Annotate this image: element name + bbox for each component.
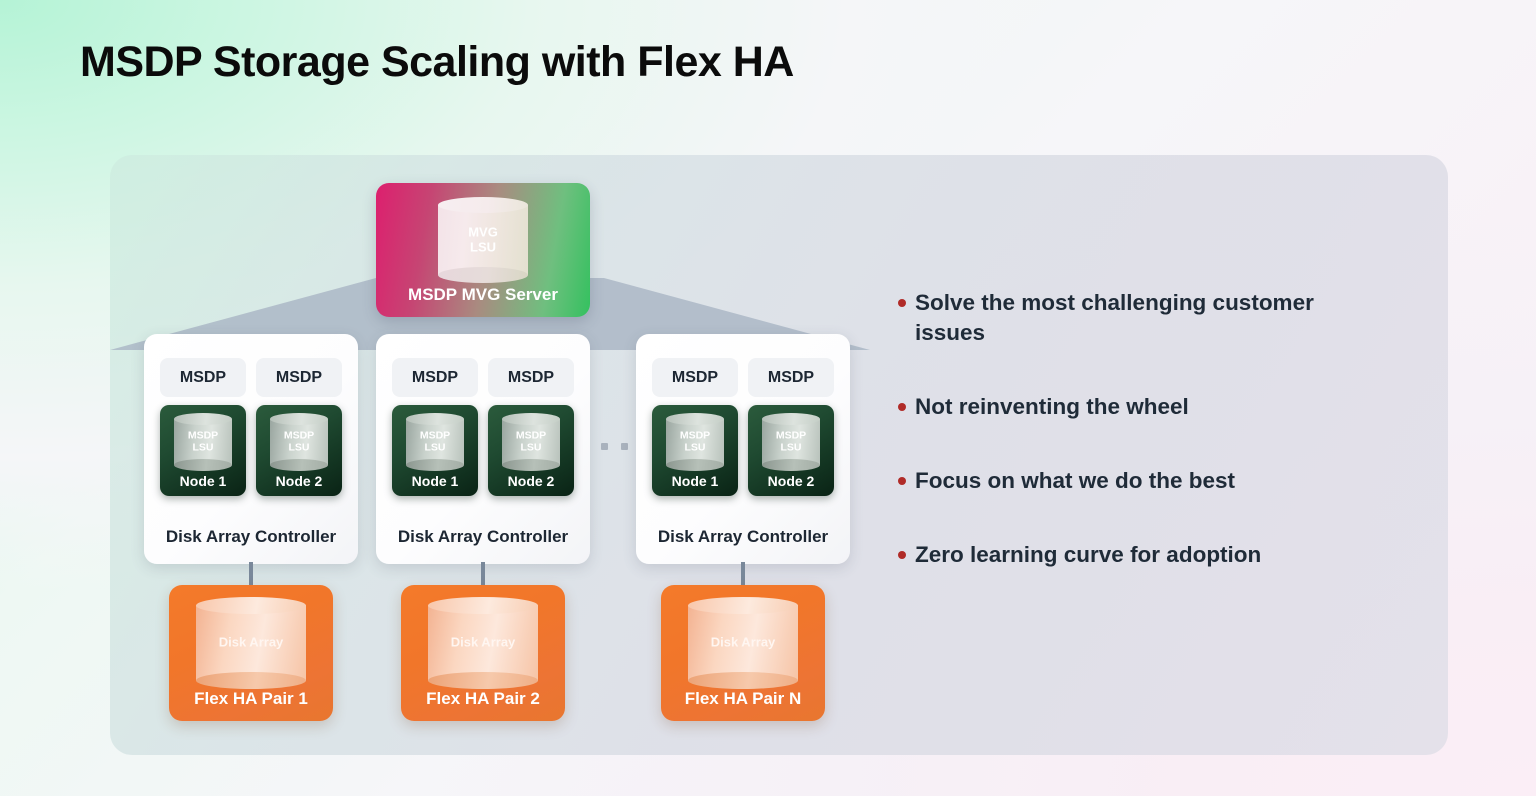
ellipsis-dot: [601, 443, 608, 450]
benefits-bullet-list: Solve the most challenging customer issu…: [898, 288, 1368, 614]
bullet-marker-icon: [898, 299, 906, 307]
node-cylinder-wrap: MSDP LSU: [666, 413, 724, 471]
bullet-marker-icon: [898, 403, 906, 411]
bullet-marker-icon: [898, 477, 906, 485]
msdp-lsu-cylinder-icon: MSDP LSU: [502, 413, 560, 471]
node-label: Node 1: [392, 473, 478, 489]
node-cylinder-wrap: MSDP LSU: [762, 413, 820, 471]
bullet-text: Solve the most challenging customer issu…: [915, 288, 1345, 348]
msdp-pill[interactable]: MSDP: [256, 358, 342, 397]
mvg-cylinder-label-line1: MVG: [438, 225, 528, 240]
node-cylinder-label-line2: LSU: [502, 442, 560, 454]
node-row: MSDP LSU Node 1 MSDP LSU Node 2: [652, 405, 834, 496]
flex-ha-pair-label: Flex HA Pair 1: [169, 689, 333, 709]
disk-array-cylinder-wrap: Disk Array: [688, 597, 798, 689]
node-box-2[interactable]: MSDP LSU Node 2: [488, 405, 574, 496]
msdp-mvg-server-card[interactable]: MVG LSU MSDP MVG Server: [376, 183, 590, 317]
node-cylinder-label-line1: MSDP: [666, 430, 724, 442]
node-label: Node 1: [160, 473, 246, 489]
flex-ha-pair-label: Flex HA Pair 2: [401, 689, 565, 709]
node-cylinder-label-line1: MSDP: [762, 430, 820, 442]
disk-array-cylinder-wrap: Disk Array: [196, 597, 306, 689]
node-cylinder-label-line1: MSDP: [270, 430, 328, 442]
msdp-lsu-cylinder-icon: MSDP LSU: [406, 413, 464, 471]
mvg-cylinder-label-line2: LSU: [438, 240, 528, 255]
node-cylinder-label-line1: MSDP: [502, 430, 560, 442]
node-box-1[interactable]: MSDP LSU Node 1: [160, 405, 246, 496]
controller-caption: Disk Array Controller: [636, 527, 850, 547]
msdp-lsu-cylinder-icon: MSDP LSU: [762, 413, 820, 471]
node-box-1[interactable]: MSDP LSU Node 1: [392, 405, 478, 496]
node-cylinder-label-line1: MSDP: [174, 430, 232, 442]
disk-array-cylinder-label: Disk Array: [688, 636, 798, 651]
controller-caption: Disk Array Controller: [144, 527, 358, 547]
disk-array-cylinder-icon: Disk Array: [688, 597, 798, 689]
node-cylinder-label-line2: LSU: [406, 442, 464, 454]
msdp-lsu-cylinder-icon: MSDP LSU: [270, 413, 328, 471]
node-cylinder-wrap: MSDP LSU: [270, 413, 328, 471]
bullet-text: Zero learning curve for adoption: [915, 540, 1261, 570]
flex-ha-pair-card-1[interactable]: Disk Array Flex HA Pair 1: [169, 585, 333, 721]
flex-ha-pair-label: Flex HA Pair N: [661, 689, 825, 709]
bullet-item: Solve the most challenging customer issu…: [898, 288, 1368, 348]
disk-array-cylinder-icon: Disk Array: [196, 597, 306, 689]
bullet-text: Focus on what we do the best: [915, 466, 1235, 496]
node-cylinder-label-line2: LSU: [174, 442, 232, 454]
node-label: Node 2: [748, 473, 834, 489]
node-cylinder-wrap: MSDP LSU: [406, 413, 464, 471]
node-cylinder-wrap: MSDP LSU: [502, 413, 560, 471]
disk-array-cylinder-label: Disk Array: [428, 636, 538, 651]
msdp-pill-row: MSDP MSDP: [392, 358, 574, 397]
node-label: Node 2: [488, 473, 574, 489]
msdp-pill-row: MSDP MSDP: [652, 358, 834, 397]
node-cylinder-label-line2: LSU: [270, 442, 328, 454]
bullet-item: Not reinventing the wheel: [898, 392, 1368, 422]
ellipsis-dot: [621, 443, 628, 450]
node-cylinder-label-line2: LSU: [762, 442, 820, 454]
msdp-pill-row: MSDP MSDP: [160, 358, 342, 397]
mvg-lsu-cylinder-icon: MVG LSU: [438, 197, 528, 283]
disk-array-cylinder-wrap: Disk Array: [428, 597, 538, 689]
node-cylinder-label-line1: MSDP: [406, 430, 464, 442]
msdp-pill[interactable]: MSDP: [652, 358, 738, 397]
disk-array-controller-card-1[interactable]: MSDP MSDP MSDP LSU Node 1 MSDP: [144, 334, 358, 564]
controller-caption: Disk Array Controller: [376, 527, 590, 547]
msdp-pill[interactable]: MSDP: [748, 358, 834, 397]
node-box-2[interactable]: MSDP LSU Node 2: [748, 405, 834, 496]
msdp-pill[interactable]: MSDP: [160, 358, 246, 397]
msdp-lsu-cylinder-icon: MSDP LSU: [174, 413, 232, 471]
node-box-1[interactable]: MSDP LSU Node 1: [652, 405, 738, 496]
mvg-lsu-cylinder-wrap: MVG LSU: [438, 197, 528, 283]
node-cylinder-wrap: MSDP LSU: [174, 413, 232, 471]
msdp-pill[interactable]: MSDP: [488, 358, 574, 397]
node-label: Node 1: [652, 473, 738, 489]
page-title: MSDP Storage Scaling with Flex HA: [80, 38, 794, 87]
msdp-pill[interactable]: MSDP: [392, 358, 478, 397]
disk-array-controller-card-n[interactable]: MSDP MSDP MSDP LSU Node 1 MSDP: [636, 334, 850, 564]
bullet-item: Zero learning curve for adoption: [898, 540, 1368, 570]
bullet-text: Not reinventing the wheel: [915, 392, 1189, 422]
disk-array-cylinder-label: Disk Array: [196, 636, 306, 651]
disk-array-cylinder-icon: Disk Array: [428, 597, 538, 689]
flex-ha-pair-card-n[interactable]: Disk Array Flex HA Pair N: [661, 585, 825, 721]
bullet-item: Focus on what we do the best: [898, 466, 1368, 496]
node-box-2[interactable]: MSDP LSU Node 2: [256, 405, 342, 496]
bullet-marker-icon: [898, 551, 906, 559]
node-label: Node 2: [256, 473, 342, 489]
msdp-lsu-cylinder-icon: MSDP LSU: [666, 413, 724, 471]
disk-array-controller-card-2[interactable]: MSDP MSDP MSDP LSU Node 1 MSDP: [376, 334, 590, 564]
node-row: MSDP LSU Node 1 MSDP LSU Node 2: [160, 405, 342, 496]
node-row: MSDP LSU Node 1 MSDP LSU Node 2: [392, 405, 574, 496]
node-cylinder-label-line2: LSU: [666, 442, 724, 454]
flex-ha-pair-card-2[interactable]: Disk Array Flex HA Pair 2: [401, 585, 565, 721]
msdp-mvg-server-label: MSDP MVG Server: [376, 285, 590, 305]
